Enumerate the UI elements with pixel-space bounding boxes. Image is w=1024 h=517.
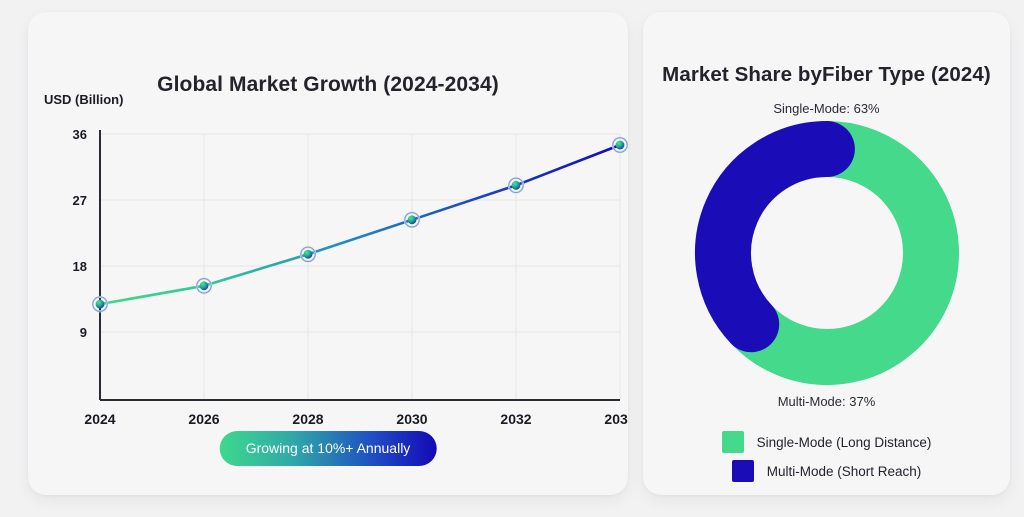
donut-chart-card: Market Share byFiber Type (2024) Single-… xyxy=(643,12,1010,495)
line-plot-area: 9182736 202420262028203020322034 xyxy=(28,12,628,495)
svg-text:36: 36 xyxy=(73,127,87,142)
y-axis-ticks: 9182736 xyxy=(73,127,87,340)
legend-swatch-single-mode xyxy=(722,431,744,453)
legend-item-multi-mode[interactable]: Multi-Mode (Short Reach) xyxy=(643,460,1010,482)
svg-text:2028: 2028 xyxy=(292,411,323,427)
svg-text:27: 27 xyxy=(73,193,87,208)
donut-slice-multi-mode[interactable] xyxy=(723,149,827,324)
legend-label-multi-mode: Multi-Mode (Short Reach) xyxy=(767,464,922,479)
data-point-markers xyxy=(93,138,627,312)
donut-chart-svg xyxy=(682,108,972,398)
donut-slices xyxy=(723,149,931,357)
svg-text:2030: 2030 xyxy=(396,411,427,427)
data-line xyxy=(100,145,620,304)
svg-text:9: 9 xyxy=(80,325,87,340)
axis-lines xyxy=(100,130,620,400)
donut-plot-area xyxy=(643,108,1010,398)
donut-legend: Single-Mode (Long Distance) Multi-Mode (… xyxy=(643,431,1010,489)
line-chart-card: Global Market Growth (2024-2034) USD (Bi… xyxy=(28,12,628,495)
svg-text:2032: 2032 xyxy=(500,411,531,427)
svg-text:2024: 2024 xyxy=(84,411,115,427)
legend-item-single-mode[interactable]: Single-Mode (Long Distance) xyxy=(643,431,1010,453)
legend-label-single-mode: Single-Mode (Long Distance) xyxy=(757,435,932,450)
legend-swatch-multi-mode xyxy=(732,460,754,482)
x-axis-ticks: 202420262028203020322034 xyxy=(84,411,628,427)
line-chart-svg: 9182736 202420262028203020322034 xyxy=(28,12,628,495)
multi-mode-value-label: Multi-Mode: 37% xyxy=(643,394,1010,409)
donut-chart-title: Market Share byFiber Type (2024) xyxy=(643,63,1010,87)
svg-text:2034: 2034 xyxy=(604,411,628,427)
growth-badge[interactable]: Growing at 10%+ Annually xyxy=(220,431,437,466)
svg-text:18: 18 xyxy=(73,259,87,274)
svg-text:2026: 2026 xyxy=(188,411,219,427)
screenshot-root: Global Market Growth (2024-2034) USD (Bi… xyxy=(0,0,1024,517)
